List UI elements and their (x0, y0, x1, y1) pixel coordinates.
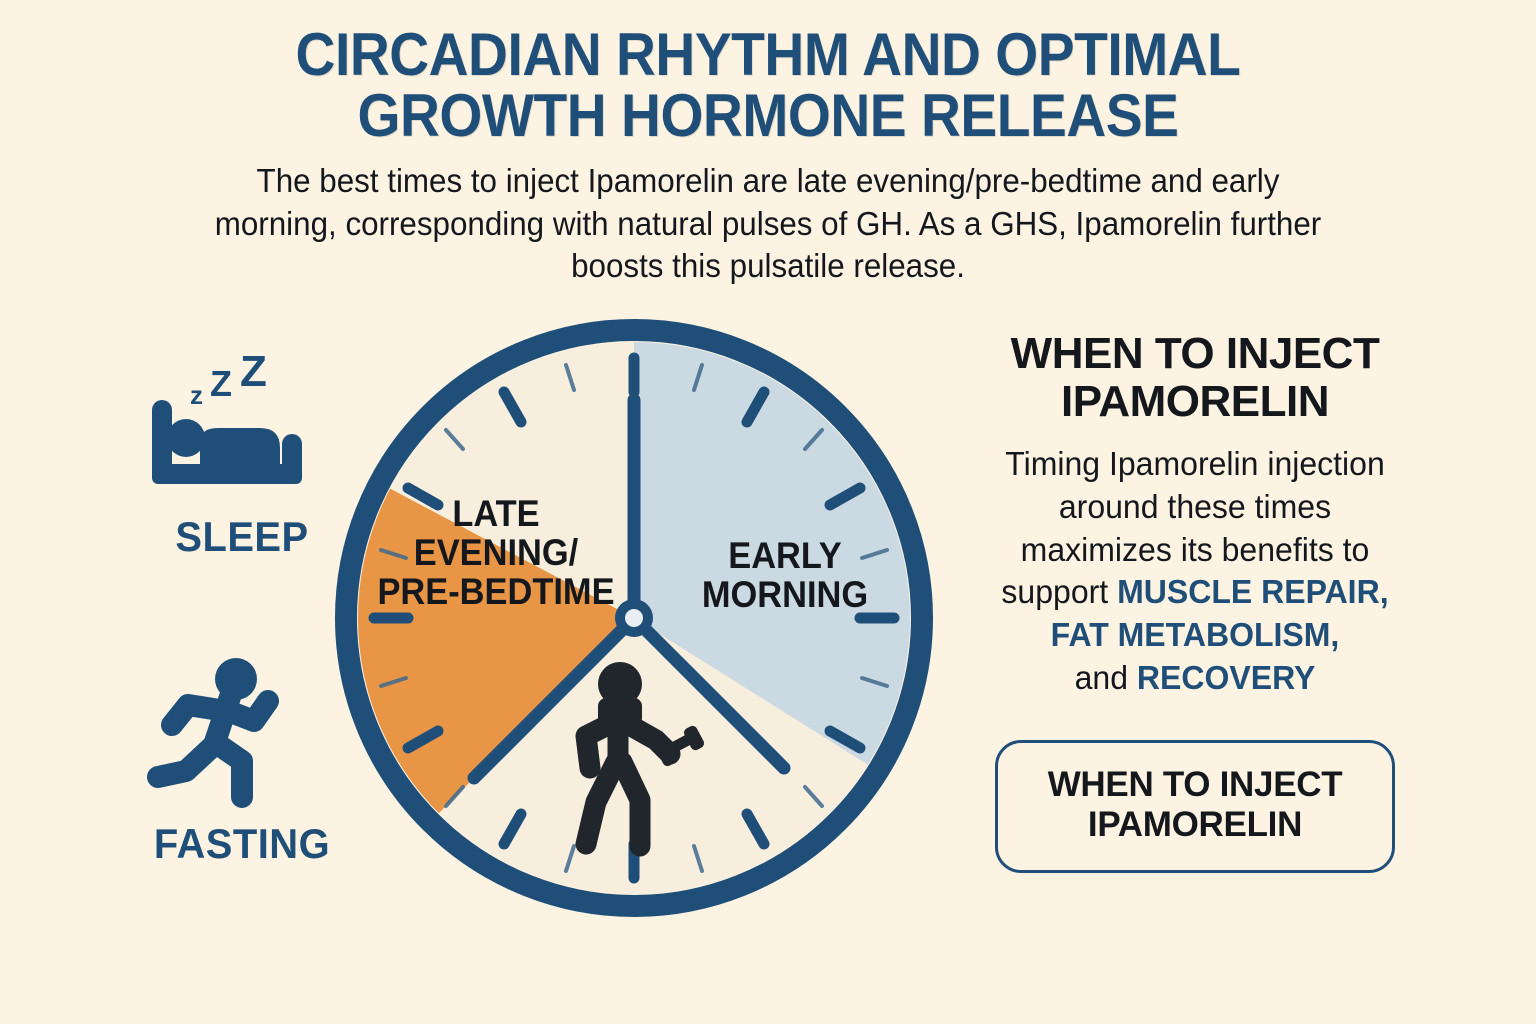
highlight-fat-metabolism: FAT METABOLISM, (1051, 616, 1340, 653)
page-title-line-2: GROWTH HORMONE RELEASE (253, 85, 1283, 146)
highlight-muscle-repair: MUSCLE REPAIR, (1117, 573, 1389, 610)
running-person-icon (142, 649, 342, 809)
page-subtitle: The best times to inject Ipamorelin are … (193, 160, 1343, 287)
panel-heading-line-1: WHEN TO INJECT (962, 330, 1428, 378)
panel-body: Timing Ipamorelin injection around these… (969, 443, 1421, 700)
panel-body-line-5: FAT METABOLISM, (969, 614, 1421, 657)
when-to-inject-button[interactable]: WHEN TO INJECT IPAMORELIN (995, 740, 1395, 873)
cta-line-1: WHEN TO INJECT (1008, 765, 1382, 805)
page-title: CIRCADIAN RHYTHM AND OPTIMAL GROWTH HORM… (253, 24, 1283, 146)
panel-body-line-6: and RECOVERY (969, 657, 1421, 700)
panel-body-line-1: Timing Ipamorelin injection (969, 443, 1421, 486)
page-title-line-1: CIRCADIAN RHYTHM AND OPTIMAL (253, 24, 1283, 85)
panel-body-line-4: support MUSCLE REPAIR, (969, 571, 1421, 614)
cta-line-2: IPAMORELIN (1008, 805, 1382, 845)
and-text: and (1075, 659, 1137, 696)
panel-heading-line-2: IPAMORELIN (962, 378, 1428, 426)
circadian-clock: LATE EVENING/ PRE-BEDTIME EARLY MORNING (318, 302, 950, 934)
right-panel: WHEN TO INJECT IPAMORELIN Timing Ipamore… (962, 330, 1428, 873)
svg-text:Z: Z (210, 363, 232, 404)
clock-face-svg (318, 302, 950, 934)
panel-body-line-2: around these times (969, 486, 1421, 529)
header: CIRCADIAN RHYTHM AND OPTIMAL GROWTH HORM… (0, 24, 1536, 287)
infographic-page: CIRCADIAN RHYTHM AND OPTIMAL GROWTH HORM… (0, 0, 1536, 1024)
sleeping-person-in-bed-icon: z Z Z (142, 352, 342, 502)
svg-text:Z: Z (240, 352, 267, 396)
support-text: support (1001, 573, 1117, 610)
svg-text:z: z (190, 380, 203, 410)
panel-body-line-3: maximizes its benefits to (969, 529, 1421, 572)
highlight-recovery: RECOVERY (1137, 659, 1315, 696)
panel-heading: WHEN TO INJECT IPAMORELIN (962, 330, 1428, 427)
